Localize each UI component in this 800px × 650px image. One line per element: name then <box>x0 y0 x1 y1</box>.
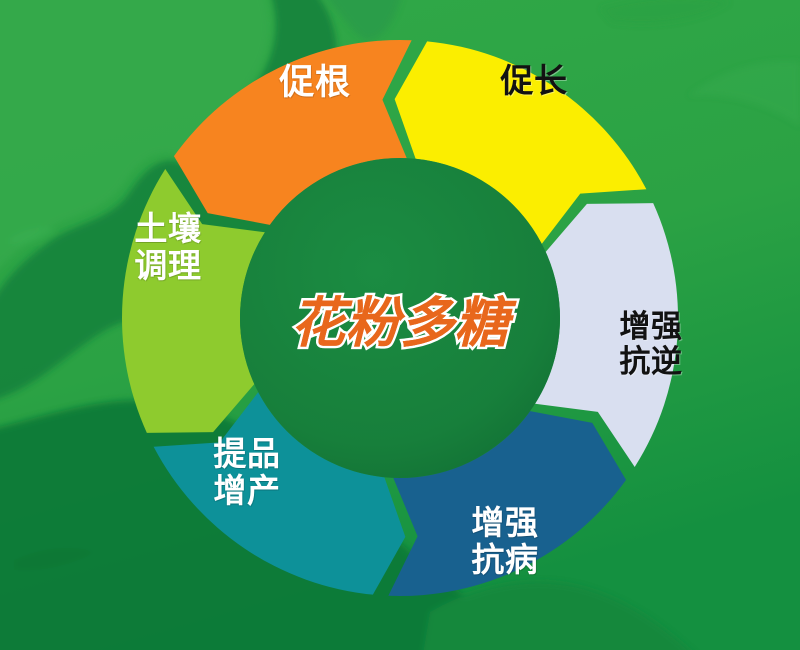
process-wheel <box>0 0 800 650</box>
center-disc <box>240 158 560 478</box>
infographic-root: 促长增强 抗逆增强 抗病提品 增产土壤 调理促根 花粉多糖 花粉多糖 <box>0 0 800 650</box>
